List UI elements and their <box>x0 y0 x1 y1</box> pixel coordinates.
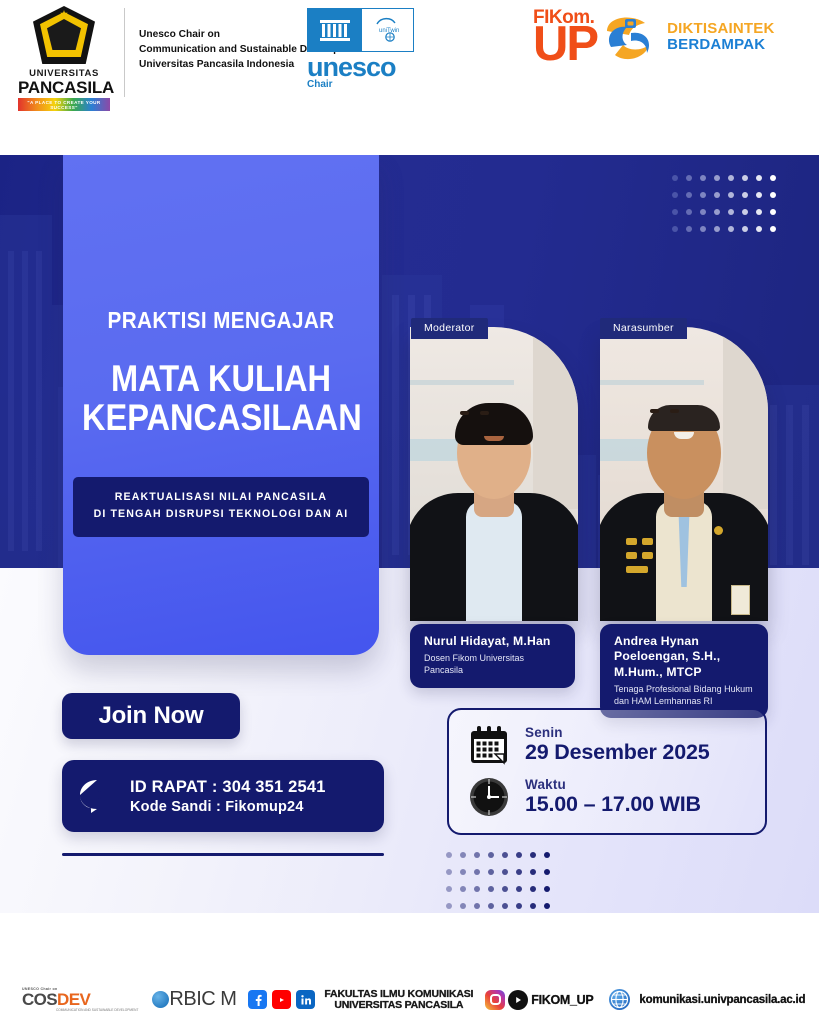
unesco-temple-icon <box>308 9 362 51</box>
decorative-dot <box>530 869 536 875</box>
poster-page: UNIVERSITAS PANCASILA "A PLACE TO CREATE… <box>0 0 819 1024</box>
orbicom-logo: RBIC M <box>152 988 236 1011</box>
dot-row <box>446 869 558 886</box>
faculty-name: FAKULTAS ILMU KOMUNIKASI UNIVERSITAS PAN… <box>324 989 473 1010</box>
decorative-dot <box>672 209 678 215</box>
decorative-dot <box>530 903 536 909</box>
decorative-dot <box>672 175 678 181</box>
calendar-icon <box>467 723 511 767</box>
footer-bar: UNESCO Chair on COSDEV COMMUNICATION AND… <box>0 975 819 1024</box>
meeting-info-box[interactable]: ID RAPAT : 304 351 2541 Kode Sandi : Fik… <box>62 760 384 832</box>
cosdev-logo: UNESCO Chair on COSDEV COMMUNICATION AND… <box>22 987 138 1012</box>
decorative-dot <box>742 209 748 215</box>
decorative-dot <box>700 175 706 181</box>
cosdev-bottom-text: COMMUNICATION AND SUSTAINABLE DEVELOPMEN… <box>56 1008 138 1012</box>
facebook-icon[interactable] <box>248 990 267 1009</box>
unesco-marks: uniTwin <box>307 8 414 52</box>
schedule-day: Senin <box>525 725 709 740</box>
decorative-dot <box>742 226 748 232</box>
decorative-dot <box>544 869 550 875</box>
poster-canvas: PRAKTISI MENGAJAR MATA KULIAH KEPANCASIL… <box>0 155 819 975</box>
poster-white-strip <box>0 913 819 975</box>
poster-title-line-2: KEPANCASILAAN <box>82 399 360 438</box>
speaker-badge-narasumber: Narasumber <box>600 318 687 339</box>
decorative-dot <box>714 209 720 215</box>
decorative-dot <box>728 192 734 198</box>
speaker-name-moderator: Nurul Hidayat, M.Han <box>424 634 561 649</box>
decorative-dot <box>446 852 452 858</box>
dot-grid-top-decoration <box>672 175 784 243</box>
decorative-dot <box>544 852 550 858</box>
meeting-passcode: Kode Sandi : Fikomup24 <box>130 799 326 815</box>
website-group: komunikasi.univpancasila.ac.id <box>609 989 805 1010</box>
header-divider <box>124 8 125 97</box>
poster-title-line-1: MATA KULIAH <box>82 360 360 399</box>
logo-line-pancasila: PANCASILA <box>18 79 110 96</box>
decorative-dot <box>770 175 776 181</box>
universitas-pancasila-logo: UNIVERSITAS PANCASILA "A PLACE TO CREATE… <box>18 6 110 111</box>
speaker-badge-moderator: Moderator <box>411 318 488 339</box>
dot-row <box>446 886 558 903</box>
cosdev-dev: DEV <box>57 990 90 1009</box>
globe-icon <box>609 989 630 1010</box>
decorative-dot <box>474 852 480 858</box>
dot-grid-bottom-decoration <box>446 852 558 920</box>
speaker-photo-narasumber <box>600 327 768 621</box>
play-circle-icon[interactable] <box>508 990 528 1010</box>
decorative-dot <box>756 175 762 181</box>
decorative-dot <box>686 226 692 232</box>
decorative-dot <box>474 903 480 909</box>
decorative-dot <box>700 209 706 215</box>
decorative-dot <box>700 192 706 198</box>
dot-row <box>672 175 784 192</box>
meeting-id: ID RAPAT : 304 351 2541 <box>130 778 326 797</box>
decorative-dot <box>502 852 508 858</box>
instagram-handle: FIKOM_UP <box>531 993 593 1007</box>
pancasila-crest-icon <box>33 6 95 66</box>
dot-row <box>446 852 558 869</box>
decorative-dot <box>544 903 550 909</box>
decorative-dot <box>516 869 522 875</box>
decorative-dot <box>460 903 466 909</box>
decorative-dot <box>686 209 692 215</box>
decorative-dot <box>770 192 776 198</box>
speaker-role-moderator: Dosen Fikom Universitas Pancasila <box>424 652 561 676</box>
decorative-dot <box>474 886 480 892</box>
dot-row <box>672 209 784 226</box>
schedule-date-row: Senin 29 Desember 2025 <box>467 723 765 767</box>
decorative-dot <box>686 175 692 181</box>
website-url: komunikasi.univpancasila.ac.id <box>639 994 805 1006</box>
orbicom-globe-icon <box>152 991 169 1008</box>
schedule-date: 29 Desember 2025 <box>525 740 709 765</box>
speaker-name-narasumber: Andrea Hynan Poeloengan, S.H., M.Hum., M… <box>614 634 754 680</box>
diktisaintek-mark-icon <box>601 11 659 63</box>
decorative-dot <box>756 226 762 232</box>
decorative-dot <box>502 869 508 875</box>
dot-row <box>672 192 784 209</box>
decorative-dot <box>516 903 522 909</box>
decorative-dot <box>446 903 452 909</box>
decorative-dot <box>700 226 706 232</box>
cosdev-cos: COS <box>22 990 57 1009</box>
decorative-dot <box>544 886 550 892</box>
decorative-dot <box>488 852 494 858</box>
schedule-time-label: Waktu <box>525 777 701 792</box>
decorative-dot <box>488 886 494 892</box>
speaker-role-narasumber-line-2: dan HAM Lemhannas RI <box>614 695 754 707</box>
join-now-label: Join Now <box>98 702 203 730</box>
decorative-dot <box>728 175 734 181</box>
instagram-icon[interactable] <box>485 990 505 1010</box>
fikom-up-logo: FIKom. UP DIKTISAINTEK BERDAMPAK <box>533 8 774 65</box>
dot-row <box>672 226 784 243</box>
decorative-dot <box>770 209 776 215</box>
decorative-dot <box>714 192 720 198</box>
decorative-dot <box>742 175 748 181</box>
title-panel: PRAKTISI MENGAJAR MATA KULIAH KEPANCASIL… <box>63 155 379 655</box>
speaker-photo-moderator <box>410 327 578 621</box>
divider-rule <box>62 853 384 856</box>
orbicom-wordmark: RBIC M <box>169 988 236 1011</box>
logo-tagline: "A PLACE TO CREATE YOUR SUCCESS" <box>18 98 110 111</box>
faculty-line-2: UNIVERSITAS PANCASILA <box>324 1000 473 1011</box>
poster-subtitle-line-2: DI TENGAH DISRUPSI TEKNOLOGI DAN AI <box>81 506 361 523</box>
decorative-dot <box>672 226 678 232</box>
decorative-dot <box>756 209 762 215</box>
decorative-dot <box>474 869 480 875</box>
decorative-dot <box>446 886 452 892</box>
youtube-icon[interactable] <box>272 990 291 1009</box>
speaker-card-moderator: Nurul Hidayat, M.Han Dosen Fikom Univers… <box>410 624 575 688</box>
decorative-dot <box>502 886 508 892</box>
diktisaintek-line-2: BERDAMPAK <box>667 37 774 53</box>
schedule-time-row: Waktu 15.00 – 17.00 WIB <box>467 775 765 819</box>
join-now-button[interactable]: Join Now <box>62 693 240 739</box>
poster-title: MATA KULIAH KEPANCASILAAN <box>82 360 360 438</box>
decorative-dot <box>516 886 522 892</box>
header-bar: UNIVERSITAS PANCASILA "A PLACE TO CREATE… <box>0 0 819 155</box>
social-icon-group <box>248 990 315 1009</box>
diktisaintek-line-1: DIKTISAINTEK <box>667 21 774 37</box>
decorative-dot <box>672 192 678 198</box>
video-camera-icon <box>78 778 118 814</box>
decorative-dot <box>742 192 748 198</box>
up-wordmark: UP <box>533 24 597 65</box>
decorative-dot <box>714 226 720 232</box>
decorative-dot <box>530 886 536 892</box>
meeting-text-lines: ID RAPAT : 304 351 2541 Kode Sandi : Fik… <box>130 778 326 815</box>
faculty-line-1: FAKULTAS ILMU KOMUNIKASI <box>324 989 473 1000</box>
clock-icon <box>467 775 511 819</box>
linkedin-icon[interactable] <box>296 990 315 1009</box>
schedule-time: 15.00 – 17.00 WIB <box>525 792 701 817</box>
decorative-dot <box>728 209 734 215</box>
decorative-dot <box>516 852 522 858</box>
decorative-dot <box>488 903 494 909</box>
poster-subtitle-line-1: REAKTUALISASI NILAI PANCASILA <box>81 489 361 506</box>
decorative-dot <box>446 869 452 875</box>
schedule-box: Senin 29 Desember 2025 <box>447 708 767 835</box>
decorative-dot <box>686 192 692 198</box>
dot-row <box>446 903 558 920</box>
decorative-dot <box>756 192 762 198</box>
diktisaintek-wordmark: DIKTISAINTEK BERDAMPAK <box>667 21 774 53</box>
instagram-group: FIKOM_UP <box>485 990 593 1010</box>
decorative-dot <box>460 852 466 858</box>
unitwin-icon: uniTwin <box>362 9 413 51</box>
speaker-role-narasumber-line-1: Tenaga Profesional Bidang Hukum <box>614 683 754 695</box>
speaker-card-narasumber: Andrea Hynan Poeloengan, S.H., M.Hum., M… <box>600 624 768 718</box>
decorative-dot <box>502 903 508 909</box>
unesco-wordmark: unesco <box>307 53 422 81</box>
poster-subtitle-box: REAKTUALISASI NILAI PANCASILA DI TENGAH … <box>73 477 369 537</box>
decorative-dot <box>460 869 466 875</box>
poster-kicker: PRAKTISI MENGAJAR <box>79 307 363 334</box>
unesco-logo: uniTwin unesco Chair <box>307 8 422 90</box>
decorative-dot <box>770 226 776 232</box>
decorative-dot <box>728 226 734 232</box>
cosdev-wordmark: COSDEV <box>22 991 138 1008</box>
decorative-dot <box>460 886 466 892</box>
decorative-dot <box>488 869 494 875</box>
decorative-dot <box>714 175 720 181</box>
decorative-dot <box>530 852 536 858</box>
